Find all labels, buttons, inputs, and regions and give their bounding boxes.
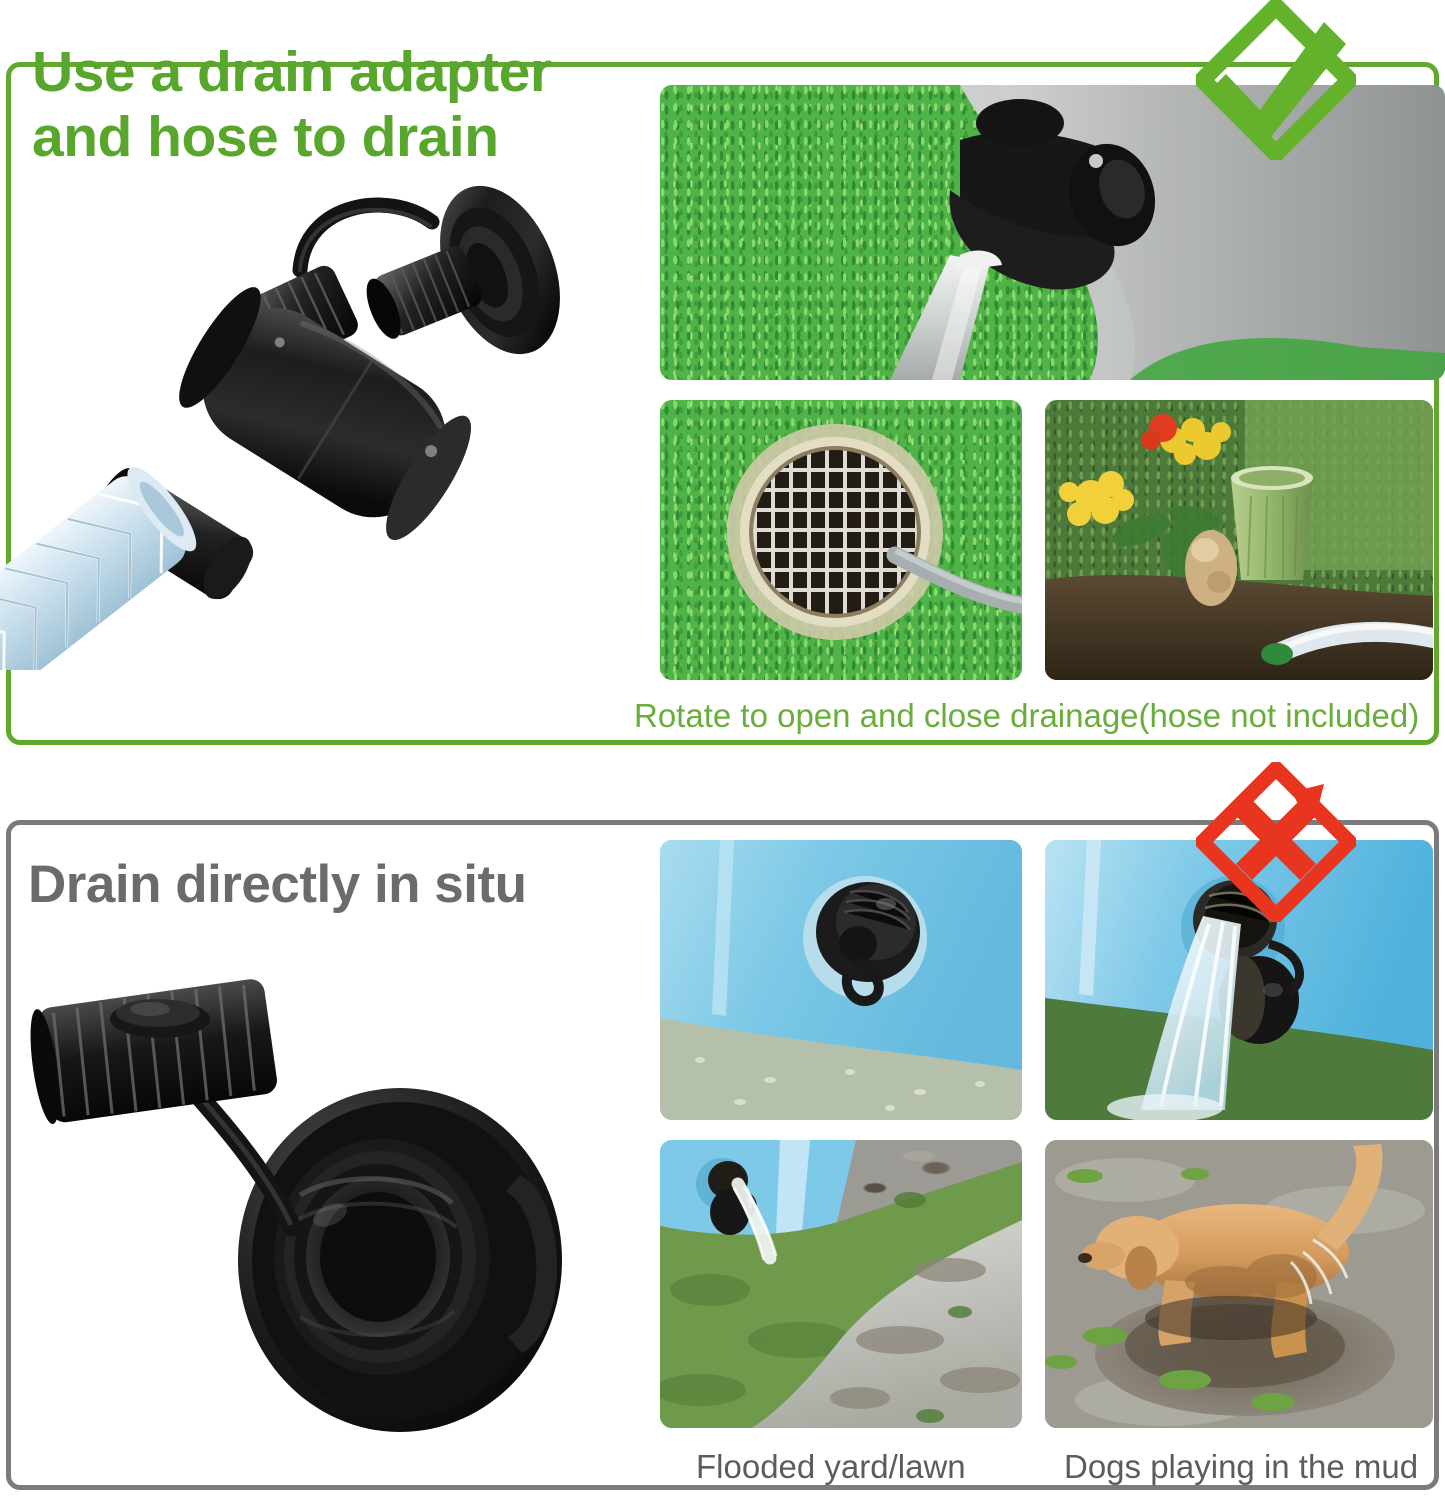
cross-mark-icon xyxy=(1196,762,1356,922)
drain-valve-with-tethered-cap-product-photo xyxy=(0,965,650,1465)
photo-closed-drain-valve-on-blue-pool xyxy=(660,840,1022,1120)
photo-garden-watering-can-with-hose xyxy=(1045,400,1433,680)
check-mark-icon xyxy=(1196,0,1356,160)
photo-dog-playing-in-mud-puddle xyxy=(1045,1140,1433,1428)
photo-storm-drain-grate-with-hose xyxy=(660,400,1022,680)
drain-adapter-with-hose-product-photo xyxy=(0,150,650,670)
photo-flooded-muddy-yard xyxy=(660,1140,1022,1428)
photo-storm-drain-content xyxy=(660,400,1022,680)
drain-adapter-illustration xyxy=(0,150,650,670)
photo-garden-content xyxy=(1045,400,1433,680)
photo-dog-in-mud-content xyxy=(1045,1140,1433,1428)
flooded-yard-caption: Flooded yard/lawn xyxy=(696,1448,966,1486)
drain-valve-illustration xyxy=(0,965,650,1465)
green-check-badge xyxy=(1196,0,1356,160)
photo-closed-valve-content xyxy=(660,840,1022,1120)
good-section-caption: Rotate to open and close drainage(hose n… xyxy=(634,697,1419,735)
photo-flooded-yard-content xyxy=(660,1140,1022,1428)
bad-section-heading: Drain directly in situ xyxy=(28,855,648,915)
dogs-in-mud-caption: Dogs playing in the mud xyxy=(1064,1448,1418,1486)
red-cross-badge xyxy=(1196,762,1356,922)
